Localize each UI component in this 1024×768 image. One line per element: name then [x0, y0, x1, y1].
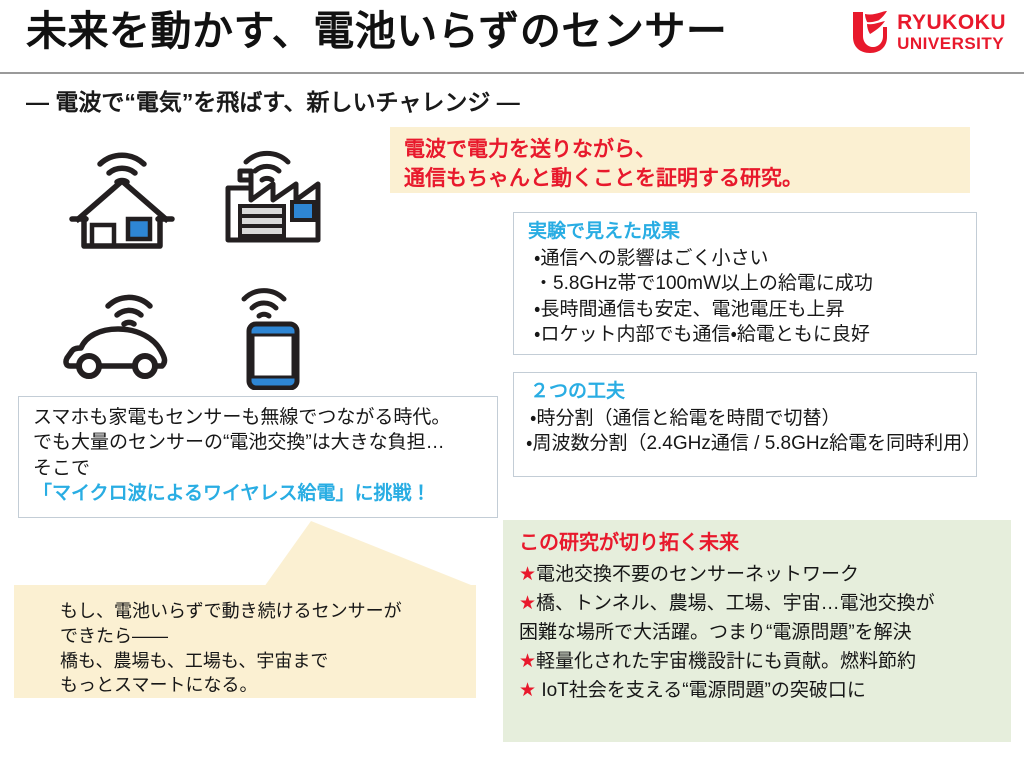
future-item-3-text: 軽量化された宇宙機設計にも貢献。燃料節約 [536, 651, 916, 672]
results-bullet-4: ・ロケット内部でも通信・給電ともに良好 [528, 322, 976, 347]
dream-callout: もし、電池いらずで動き続けるセンサーが できたら―― 橋も、農場も、工場も、宇宙… [14, 585, 476, 698]
dream-line-1: もし、電池いらずで動き続けるセンサーが [60, 599, 476, 624]
future-item-2-continuation: 困難な場所で大活躍。つまり“電源問題”を解決 [519, 619, 1011, 648]
intro-line-3: そこで [33, 456, 497, 481]
dream-line-3: 橋も、農場も、工場も、宇宙まで [60, 649, 476, 674]
car-wifi-icon [58, 288, 183, 385]
future-impact-box: この研究が切り拓く未来 ★電池交換不要のセンサーネットワーク ★橋、トンネル、農… [503, 520, 1011, 742]
future-item-1: ★電池交換不要のセンサーネットワーク [519, 561, 1011, 590]
two-techniques-box: ２つの工夫 ・時分割（通信と給電を時間で切替） ・周波数分割（2.4GHz通信 … [513, 372, 977, 477]
future-item-3: ★軽量化された宇宙機設計にも貢献。燃料節約 [519, 648, 1011, 677]
future-item-2-text: 橋、トンネル、農場、工場、宇宙…電池交換が [536, 593, 935, 614]
results-bullet-3: ・長時間通信も安定、電池電圧も上昇 [528, 297, 976, 322]
star-icon: ★ [519, 651, 536, 672]
results-heading: 実験で見えた成果 [528, 220, 976, 245]
dream-callout-body: もし、電池いらずで動き続けるセンサーが できたら―― 橋も、農場も、工場も、宇宙… [14, 585, 476, 698]
title-bar: 未来を動かす、電池いらずのセンサー RYUKOKU UNIVERSITY — 電… [0, 0, 1024, 72]
star-icon: ★ [519, 680, 536, 701]
results-bullet-1: ・通信への影響はごく小さい [528, 246, 976, 271]
title-divider [0, 72, 1024, 74]
lead-line-1: 電波で電力を送りながら、 [404, 135, 970, 164]
star-icon: ★ [519, 564, 536, 585]
logo-wordmark: RYUKOKU UNIVERSITY [897, 12, 1006, 52]
results-bullet-2: ・5.8GHz帯で100mW以上の給電に成功 [528, 271, 976, 296]
dream-line-4: もっとスマートになる。 [60, 673, 476, 698]
smartphone-wifi-icon [230, 282, 330, 395]
methods-bullet-1: ・時分割（通信と給電を時間で切替） [526, 406, 976, 431]
page-title: 未来を動かす、電池いらずのセンサー [26, 8, 727, 55]
logo-line-2: UNIVERSITY [897, 35, 1006, 52]
future-item-2-cont-text: 困難な場所で大活躍。つまり“電源問題”を解決 [519, 622, 912, 643]
intro-line-2: でも大量のセンサーの“電池交換”は大きな負担… [33, 430, 497, 455]
experiment-results-box: 実験で見えた成果 ・通信への影響はごく小さい ・5.8GHz帯で100mW以上の… [513, 212, 977, 355]
factory-wifi-icon [218, 140, 333, 257]
callout-tail [14, 521, 476, 587]
intro-highlight-line: 「マイクロ波によるワイヤレス給電」に挑戦！ [33, 481, 497, 506]
lead-statement-banner: 電波で電力を送りながら、 通信もちゃんと動くことを証明する研究。 [390, 127, 970, 193]
future-item-1-text: 電池交換不要のセンサーネットワーク [536, 564, 859, 585]
intro-context-box: スマホも家電もセンサーも無線でつながる時代。 でも大量のセンサーの“電池交換”は… [18, 396, 498, 518]
lead-line-2: 通信もちゃんと動くことを証明する研究。 [404, 164, 970, 193]
star-icon: ★ [519, 593, 536, 614]
ryukoku-university-logo: RYUKOKU UNIVERSITY [849, 10, 1006, 54]
future-item-4: ★ IoT社会を支える“電源問題”の突破口に [519, 677, 1011, 706]
slide-canvas: 未来を動かす、電池いらずのセンサー RYUKOKU UNIVERSITY — 電… [0, 0, 1024, 768]
future-item-2: ★橋、トンネル、農場、工場、宇宙…電池交換が [519, 590, 1011, 619]
methods-bullet-2: ・周波数分割（2.4GHz通信 / 5.8GHz給電を同時利用） [526, 431, 976, 456]
page-subtitle: — 電波で“電気”を飛ばす、新しいチャレンジ — [26, 83, 520, 117]
future-heading: この研究が切り拓く未来 [519, 530, 1011, 556]
intro-line-1: スマホも家電もセンサーも無線でつながる時代。 [33, 405, 497, 430]
dream-line-2: できたら―― [60, 624, 476, 649]
house-wifi-icon [62, 138, 182, 258]
ryukoku-logo-mark [849, 10, 889, 54]
future-item-4-text: IoT社会を支える“電源問題”の突破口に [536, 680, 866, 701]
methods-heading: ２つの工夫 [526, 380, 976, 405]
logo-line-1: RYUKOKU [897, 12, 1006, 33]
